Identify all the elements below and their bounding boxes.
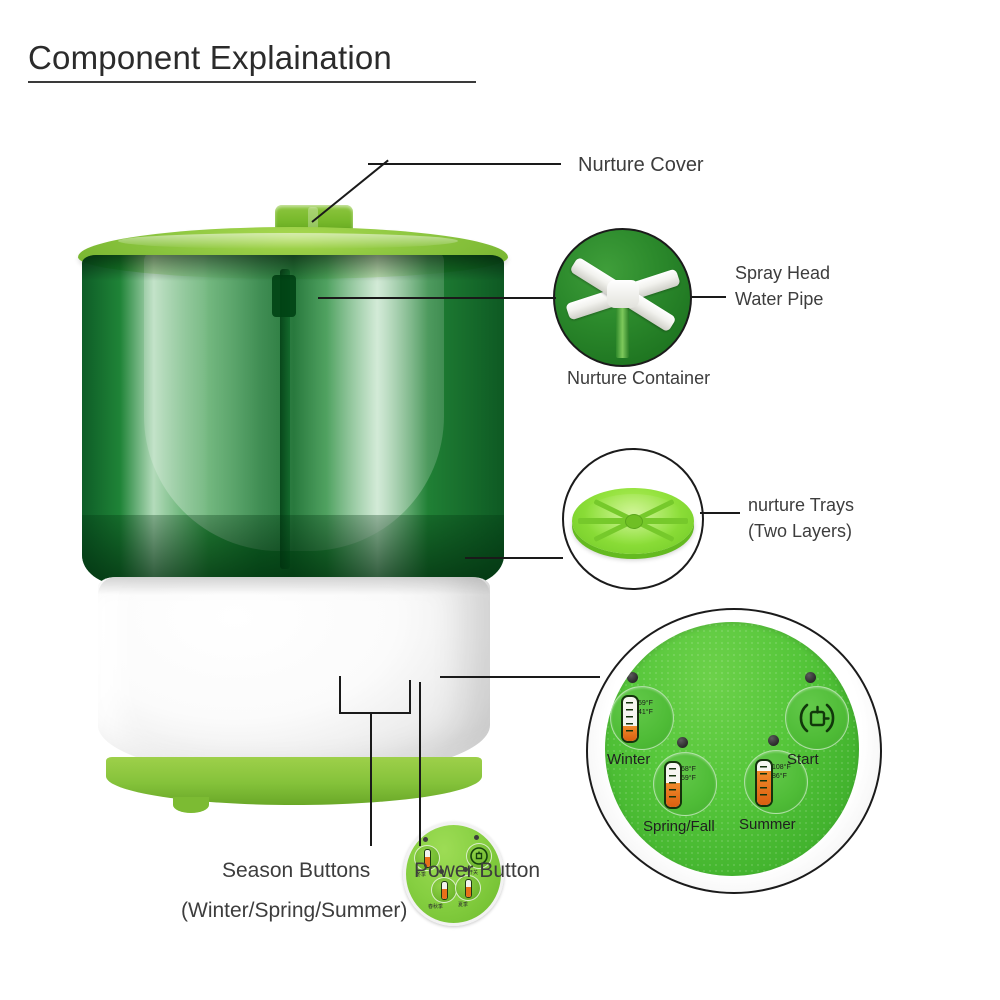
winter-temp-low: 41°F bbox=[638, 708, 653, 717]
power-plug-icon bbox=[795, 696, 839, 740]
label-winter: Winter bbox=[607, 751, 650, 768]
lid-highlight bbox=[118, 233, 458, 249]
spray-head-detail-circle bbox=[553, 228, 692, 367]
base-top-shade bbox=[98, 577, 490, 595]
control-panel-face: 59°F 41°F Winter 68°F 59°F Spring/Fall bbox=[605, 622, 859, 876]
callout-nurture-trays-line1: nurture Trays bbox=[748, 495, 854, 515]
spring-fall-temp-high: 68°F bbox=[681, 765, 696, 774]
thermometer-ticks bbox=[626, 702, 633, 734]
nurture-tray-detail-circle bbox=[562, 448, 704, 590]
label-summer: Summer bbox=[739, 816, 796, 833]
nurture-tray-disc bbox=[572, 488, 694, 554]
winter-temps: 59°F 41°F bbox=[638, 699, 653, 717]
base-foot bbox=[173, 797, 209, 813]
thermometer-icon bbox=[621, 695, 639, 743]
label-start: Start bbox=[787, 751, 819, 768]
title-block: Component Explaination bbox=[28, 40, 478, 83]
leader-control-panel bbox=[440, 676, 600, 678]
mini-led-winter bbox=[423, 837, 428, 842]
led-winter bbox=[627, 672, 638, 683]
callout-season-buttons: Season Buttons bbox=[222, 858, 370, 884]
button-winter[interactable]: 59°F 41°F bbox=[610, 686, 674, 750]
winter-temp-high: 59°F bbox=[638, 699, 653, 708]
leader-nurture-container bbox=[318, 297, 556, 299]
mini-led-start bbox=[474, 835, 479, 840]
leader-season-v-right bbox=[409, 680, 411, 714]
control-panel-detail-circle: 59°F 41°F Winter 68°F 59°F Spring/Fall bbox=[586, 608, 882, 894]
leader-power-button bbox=[419, 682, 421, 846]
leader-season-bracket bbox=[339, 712, 411, 714]
spring-fall-temp-low: 59°F bbox=[681, 774, 696, 783]
led-spring-fall bbox=[677, 737, 688, 748]
callout-spray-head-line2: Water Pipe bbox=[735, 286, 830, 312]
callout-nurture-trays: nurture Trays (Two Layers) bbox=[748, 492, 854, 544]
nurture-container bbox=[82, 255, 504, 585]
leader-nurture-trays-left bbox=[465, 557, 563, 559]
mini-label-spring-fall: 春秋季 bbox=[428, 903, 443, 910]
thermometer-ticks bbox=[760, 766, 767, 798]
leader-nurture-trays-right bbox=[700, 512, 740, 514]
spring-fall-temps: 68°F 59°F bbox=[681, 765, 696, 783]
callout-spray-head-line1: Spray Head bbox=[735, 263, 830, 283]
spray-head-hub bbox=[607, 280, 639, 308]
title-underline bbox=[28, 81, 476, 83]
leader-spray-head bbox=[690, 296, 726, 298]
thermometer-icon bbox=[755, 759, 773, 807]
callout-spray-head: Spray Head Water Pipe bbox=[735, 260, 830, 312]
led-summer bbox=[768, 735, 779, 746]
thermometer-ticks bbox=[669, 768, 676, 800]
mini-label-summer: 夏季 bbox=[458, 901, 468, 908]
callout-nurture-trays-line2: (Two Layers) bbox=[748, 518, 854, 544]
label-spring-fall: Spring/Fall bbox=[643, 818, 715, 835]
base-green-skirt bbox=[106, 757, 482, 805]
button-spring-fall[interactable]: 68°F 59°F bbox=[653, 752, 717, 816]
leader-season-v-left bbox=[339, 676, 341, 714]
device-base bbox=[98, 577, 490, 777]
product-component-diagram: Component Explaination 冬季 bbox=[0, 0, 1000, 1000]
thermometer-icon bbox=[664, 761, 682, 809]
callout-nurture-container: Nurture Container bbox=[567, 365, 710, 391]
container-rim-shadow bbox=[82, 255, 504, 281]
callout-power-button: Power Button bbox=[414, 858, 540, 884]
callout-season-buttons-sub: (Winter/Spring/Summer) bbox=[181, 898, 407, 924]
tray-center-hub bbox=[625, 514, 643, 529]
led-start bbox=[805, 672, 816, 683]
callout-nurture-cover: Nurture Cover bbox=[578, 152, 704, 178]
summer-temp-low: 86°F bbox=[772, 772, 791, 781]
page-title: Component Explaination bbox=[28, 40, 478, 76]
leader-season-stem bbox=[370, 712, 372, 846]
container-bottom-shade bbox=[82, 515, 504, 585]
spray-head-in-container bbox=[272, 275, 296, 317]
button-start[interactable] bbox=[785, 686, 849, 750]
leader-nurture-cover-horizontal bbox=[368, 163, 561, 165]
